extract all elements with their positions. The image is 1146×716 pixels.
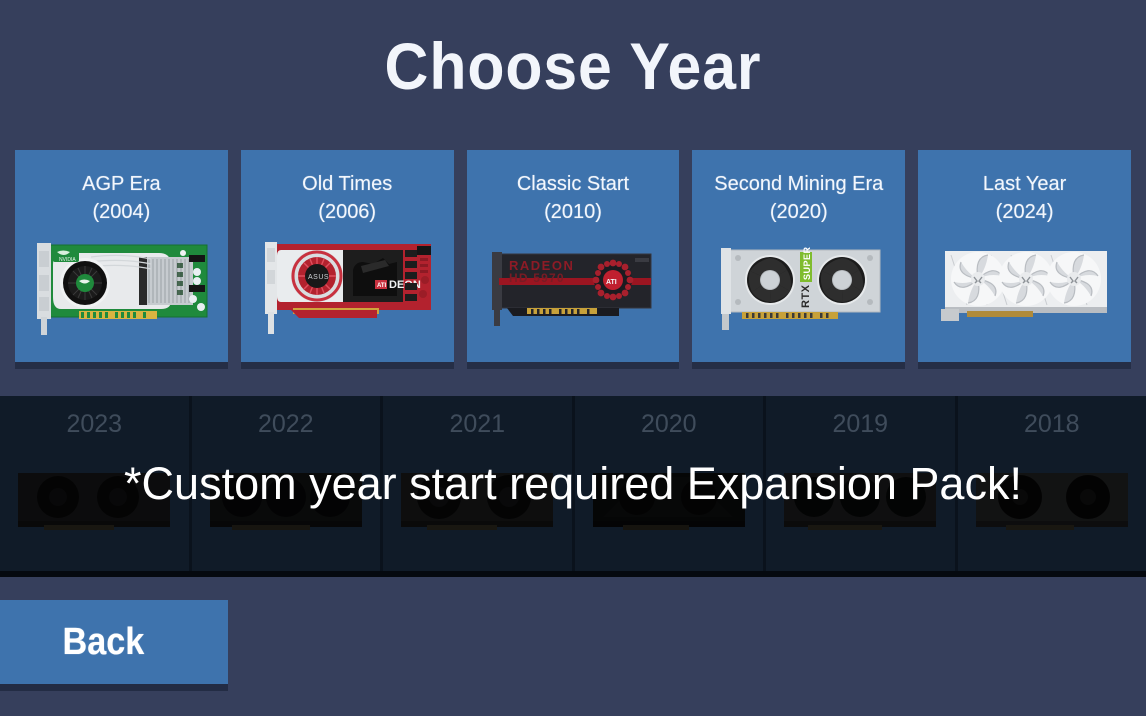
locked-year-row: 2023 2022 202 xyxy=(0,396,1146,571)
year-card-label: AGP Era (2004) xyxy=(15,170,228,226)
locked-tile-2021[interactable]: 2021 xyxy=(383,396,575,571)
locked-year-label: 2021 xyxy=(383,410,572,439)
nvidia-agp-green-card-icon: NVIDIA xyxy=(15,236,228,340)
nvidia-rtx-super-silver-card-icon: SUPER RTX xyxy=(692,236,905,340)
locked-year-label: 2018 xyxy=(958,410,1146,439)
year-card-classic-start[interactable]: Classic Start (2010) RADEON HD 5970 xyxy=(467,150,680,362)
dark-triple-fan-card-b-icon xyxy=(766,462,955,542)
dark-founders-card-icon xyxy=(383,462,572,542)
dark-blower-card-icon xyxy=(958,462,1146,542)
locked-year-label: 2023 xyxy=(0,410,189,439)
year-card-old-times[interactable]: Old Times (2006) xyxy=(241,150,454,362)
year-card-agp-era[interactable]: AGP Era (2004) xyxy=(15,150,228,362)
svg-text:RTX: RTX xyxy=(800,284,812,308)
year-card-last-year[interactable]: Last Year (2024) xyxy=(918,150,1131,362)
year-card-label: Classic Start (2010) xyxy=(467,170,680,226)
locked-tile-2018[interactable]: 2018 xyxy=(958,396,1146,571)
svg-text:NVIDIA: NVIDIA xyxy=(59,257,76,263)
svg-text:ATI: ATI xyxy=(377,283,387,289)
svg-text:ASUS: ASUS xyxy=(308,274,329,281)
year-card-label: Second Mining Era (2020) xyxy=(692,170,905,226)
year-card-label: Old Times (2006) xyxy=(241,170,454,226)
dark-triple-fan-card-icon xyxy=(192,462,381,542)
locked-year-label: 2020 xyxy=(575,410,764,439)
locked-tile-2019[interactable]: 2019 xyxy=(766,396,958,571)
dark-dual-fan-card-icon xyxy=(0,462,189,542)
locked-tile-2023[interactable]: 2023 xyxy=(0,396,192,571)
msi-white-triple-fan-card-icon xyxy=(918,236,1131,340)
year-card-label: Last Year (2024) xyxy=(918,170,1131,226)
dark-angular-card-icon xyxy=(575,462,764,542)
locked-year-label: 2019 xyxy=(766,410,955,439)
locked-year-label: 2022 xyxy=(192,410,381,439)
locked-tile-2020[interactable]: 2020 xyxy=(575,396,767,571)
page-title: Choose Year xyxy=(46,24,1100,108)
svg-text:SUPER: SUPER xyxy=(802,246,812,280)
asus-radeon-red-card-icon: ASUS ATI DEON xyxy=(241,236,454,340)
locked-tile-2022[interactable]: 2022 xyxy=(192,396,384,571)
svg-text:ATI: ATI xyxy=(606,279,617,286)
radeon-hd-5970-black-card-icon: RADEON HD 5970 ATI xyxy=(467,236,680,340)
back-button-label: Back xyxy=(63,621,145,664)
year-card-row: AGP Era (2004) xyxy=(15,150,1131,362)
back-button[interactable]: Back xyxy=(0,600,228,684)
year-card-second-mining-era[interactable]: Second Mining Era (2020) xyxy=(692,150,905,362)
svg-text:HD 5970: HD 5970 xyxy=(509,271,565,285)
